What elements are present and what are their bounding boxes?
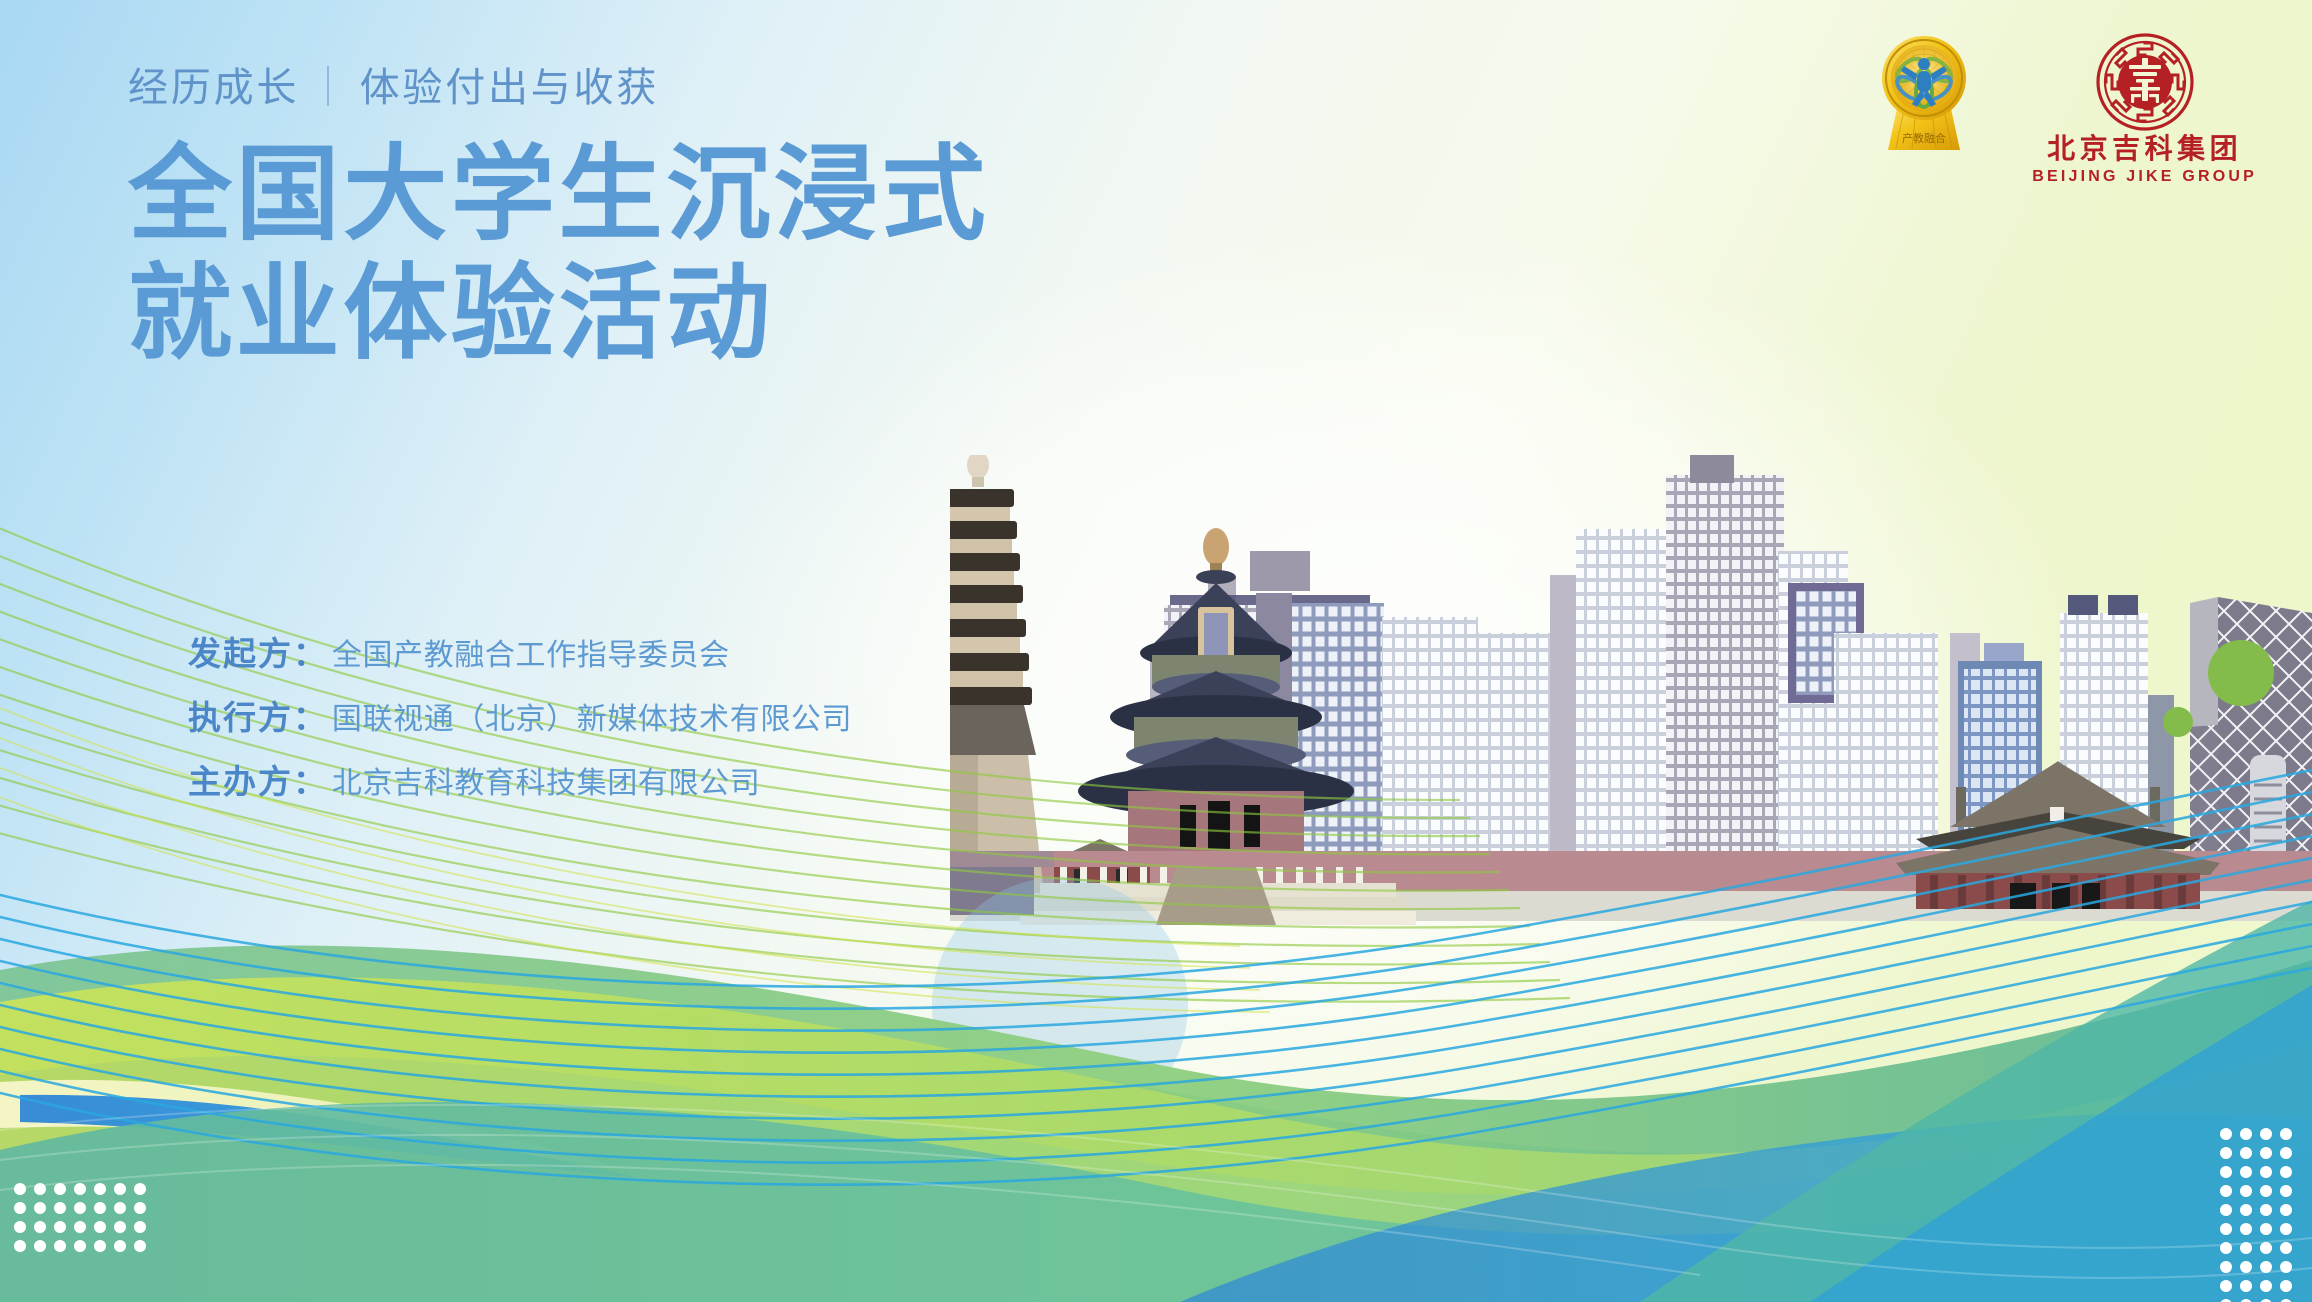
jike-logo-cn-text: 北京吉科集团: [2047, 134, 2242, 165]
headline-block: 经历成长｜体验付出与收获 全国大学生沉浸式 就业体验活动: [128, 68, 989, 373]
organizer-value-executor: 国联视通（北京）新媒体技术有限公司: [332, 694, 852, 738]
poster-subtitle: 经历成长｜体验付出与收获: [128, 68, 989, 108]
dot-grid-bottom-right: [2220, 1128, 2296, 1302]
beijing-skyline-illustration: [950, 455, 2312, 975]
产教融合-gold-seal-icon: 产教融合: [1874, 32, 1974, 152]
poster-title: 全国大学生沉浸式 就业体验活动: [128, 136, 989, 373]
logo-group: 产教融合: [1874, 32, 2257, 186]
svg-text:产教融合: 产教融合: [1902, 131, 1946, 145]
poster-canvas: 产教融合: [0, 0, 2312, 1302]
beijing-jike-group-logo: 北京吉科集团 BEIJING JIKE GROUP: [2032, 32, 2257, 186]
jike-logo-en-text: BEIJING JIKE GROUP: [2032, 168, 2257, 186]
dot-grid-bottom-left: [14, 1183, 148, 1255]
organizer-row-initiator: 发起方： 全国产教融合工作指导委员会: [188, 627, 852, 675]
organizer-value-host: 北京吉科教育科技集团有限公司: [332, 758, 760, 802]
organizer-label-executor: 执行方：: [188, 691, 328, 739]
subtitle-right-text: 体验付出与收获: [360, 66, 660, 110]
organizer-row-executor: 执行方： 国联视通（北京）新媒体技术有限公司: [188, 691, 852, 739]
jike-seal-icon: [2095, 32, 2195, 132]
subtitle-divider: ｜: [308, 68, 351, 108]
organizer-list: 发起方： 全国产教融合工作指导委员会 执行方： 国联视通（北京）新媒体技术有限公…: [188, 627, 852, 819]
organizer-label-host: 主办方：: [188, 755, 328, 803]
organizer-label-initiator: 发起方：: [188, 627, 328, 675]
poster-title-line-1: 全国大学生沉浸式: [128, 136, 989, 255]
organizer-value-initiator: 全国产教融合工作指导委员会: [332, 630, 730, 674]
subtitle-left-text: 经历成长: [128, 66, 299, 110]
poster-title-line-2: 就业体验活动: [128, 255, 989, 374]
organizer-row-host: 主办方： 北京吉科教育科技集团有限公司: [188, 755, 852, 803]
